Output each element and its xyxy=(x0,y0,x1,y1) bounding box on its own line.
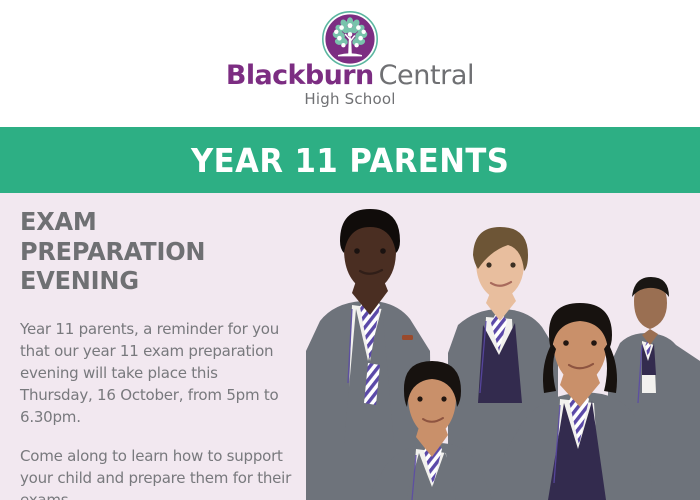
content-area: EXAM PREPARATION EVENING Year 11 parents… xyxy=(0,193,700,500)
students-photo xyxy=(290,193,700,500)
brand-wordmark: BlackburnCentral xyxy=(0,62,700,89)
body-paragraph-1: Year 11 parents, a reminder for you that… xyxy=(20,318,292,428)
body-paragraph-2: Come along to learn how to support your … xyxy=(20,445,292,500)
brand-secondary: Central xyxy=(379,60,475,91)
brand-tagline: High School xyxy=(0,92,700,107)
header-bar: BlackburnCentral High School xyxy=(0,0,700,127)
text-column: EXAM PREPARATION EVENING Year 11 parents… xyxy=(20,207,300,500)
page-title: EXAM PREPARATION EVENING xyxy=(20,207,289,296)
poster-root: BlackburnCentral High School YEAR 11 PAR… xyxy=(0,0,700,500)
brand-primary: Blackburn xyxy=(226,60,374,91)
banner-title: YEAR 11 PARENTS xyxy=(191,144,509,177)
banner-strip: YEAR 11 PARENTS xyxy=(0,127,700,193)
